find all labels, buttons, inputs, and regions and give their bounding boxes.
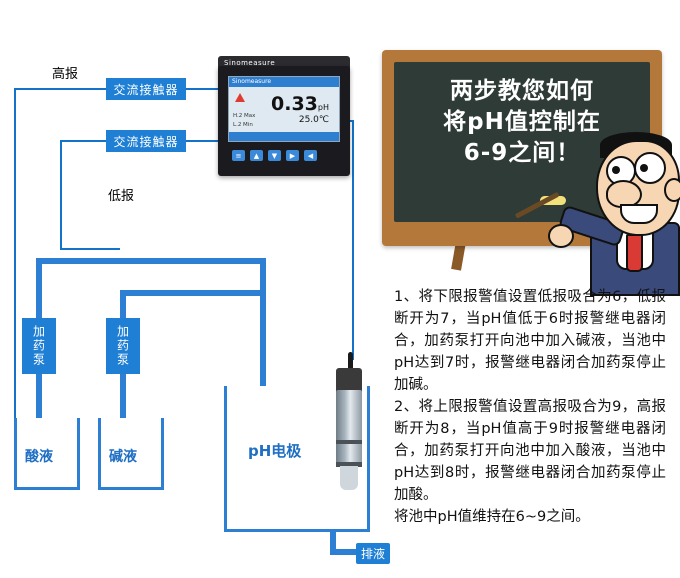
wire-contactor-bottom-to-controller [186,140,220,142]
contactor-bottom[interactable]: 交流接触器 [106,130,186,152]
probe-body [336,390,362,466]
probe-tip [340,466,358,490]
pipe-alkali-top [120,290,266,296]
teacher-tie [626,234,643,272]
screen-header: Sinomeasure [229,77,339,87]
controller-screen: Sinomeasure 0.33pH 25.0℃ H.2 Max L.2 Min [228,76,340,142]
tank-alkali-label: 碱液 [109,446,137,466]
instruction-paragraph-1: 1、将下限报警值设置低报吸合为6，低报断开为7，当pH值低于6时报警继电器闭合，… [394,286,666,396]
label-low-alarm: 低报 [108,190,134,204]
instruction-paragraph-3: 将池中pH值维持在6~9之间。 [394,506,666,528]
pipe-alkali-pump-to-tank [120,372,126,418]
dosing-pump-acid[interactable]: 加药泵 [22,318,56,374]
probe-head [336,368,362,392]
wire-low-alarm-vertical [60,140,62,250]
temperature-value: 25.0 [299,115,319,125]
pipe-acid-top [36,258,266,264]
teacher-eye-right [634,152,666,184]
drain-label: 排液 [356,543,390,564]
screen-minor-line-2: L.2 Min [233,122,253,128]
ph-electrode-label: pH电极 [248,440,301,461]
wire-low-alarm-foot [60,248,120,250]
wire-contactor-top-to-controller [186,88,220,90]
teacher-hand [548,224,574,248]
contactor-top[interactable]: 交流接触器 [106,78,186,100]
diagram-canvas: 高报 低报 交流接触器 交流接触器 加药泵 加药泵 酸液 碱液 pH电极 排液 … [0,0,680,578]
controller-brand: Sinomeasure [224,59,275,67]
blackboard-line-2: 将pH值控制在 [394,107,650,138]
ph-reading: 0.33pH [271,93,329,115]
ph-reading-value: 0.33 [271,93,318,115]
instructions-block: 1、将下限报警值设置低报吸合为6，低报断开为7，当pH值低于6时报警继电器闭合，… [394,286,666,528]
tank-acid-label: 酸液 [25,446,53,466]
instruction-paragraph-2: 2、将上限报警值设置高报吸合为9，高报断开为8，当pH值高于9时报警继电器闭合，… [394,396,666,506]
teacher-pupil-right [640,164,648,172]
blackboard-line-1: 两步教您如何 [394,76,650,107]
pipe-acid-pump-to-tank [36,372,42,418]
controller-button-row[interactable]: ≡ ▲ ▼ ▶ ◀ [232,150,317,161]
pipe-acid-vertical [36,258,42,326]
dosing-pump-alkali[interactable]: 加药泵 [106,318,140,374]
controller-button-right[interactable]: ▶ [286,150,299,161]
teacher-ear [664,178,680,202]
teacher-pupil-left [612,166,620,174]
ph-reading-unit: pH [318,103,329,112]
pipe-into-pool [260,258,266,386]
probe-ring-upper [336,440,362,444]
screen-minor-line-1: H.2 Max [233,113,255,119]
temperature-reading: 25.0℃ [299,115,329,125]
temperature-unit: ℃ [319,115,329,125]
teacher-mouth [620,204,658,224]
controller-button-up[interactable]: ▲ [250,150,263,161]
controller-button-down[interactable]: ▼ [268,150,281,161]
wire-controller-right-vertical [352,120,354,360]
controller-button-menu[interactable]: ≡ [232,150,245,161]
wire-high-alarm-horizontal [14,88,106,90]
screen-footer-bar [229,132,339,141]
controller-button-left[interactable]: ◀ [304,150,317,161]
alarm-triangle-icon [235,93,245,102]
wire-low-alarm-horizontal [60,140,106,142]
label-high-alarm: 高报 [52,68,78,82]
